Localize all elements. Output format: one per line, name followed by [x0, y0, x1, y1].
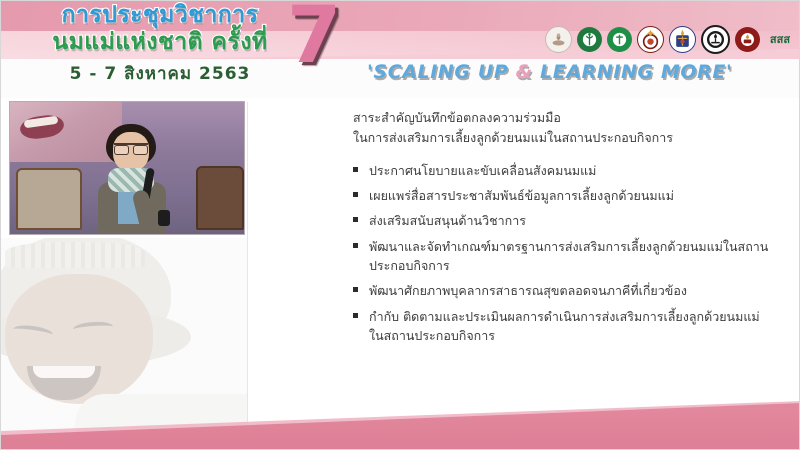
list-item-text: พัฒนาและจัดทำเกณฑ์มาตรฐานการส่งเสริมการเ… — [369, 239, 768, 273]
conference-title-line1: การประชุมวิชาการ — [15, 3, 305, 29]
child-hat-band — [5, 242, 145, 268]
chair-left — [16, 168, 82, 230]
logo-emblem-maroon-icon — [735, 27, 760, 52]
list-item: พัฒนาและจัดทำเกณฑ์มาตรฐานการส่งเสริมการเ… — [353, 237, 773, 276]
logo-thaihealth: สสส — [765, 27, 795, 52]
list-item: ส่งเสริมสนับสนุนด้านวิชาการ — [353, 211, 773, 230]
conference-title-block: การประชุมวิชาการ นมแม่แห่งชาติ ครั้งที่ … — [15, 3, 305, 87]
bullet-square-icon — [353, 243, 358, 248]
tagline-prefix: 'SCALING UP — [367, 61, 516, 83]
slide-text-content: สาระสำคัญบันทึกข้อตกลงความร่วมมือ ในการส… — [353, 108, 773, 352]
presenter-remote-icon — [158, 210, 170, 226]
tagline-ampersand: & — [516, 61, 533, 83]
logo-thaihealth-text: สสส — [770, 34, 790, 45]
lead-line-1: สาระสำคัญบันทึกข้อตกลงความร่วมมือ — [353, 108, 773, 128]
logo-emblem-black-icon — [701, 25, 730, 54]
logo-health-dept-green-icon — [577, 27, 602, 52]
column-divider — [247, 102, 248, 442]
lead-line-2: ในการส่งเสริมการเลี้ยงลูกด้วยนมแม่ในสถาน… — [353, 128, 773, 148]
bullet-square-icon — [353, 287, 358, 292]
bullet-square-icon — [353, 313, 358, 318]
edition-number-seven: 7 — [287, 1, 341, 75]
bullet-list: ประกาศนโยบายและขับเคลื่อนสังคมนมแม่ เผยแ… — [353, 161, 773, 346]
sponsor-logo-strip: สสส — [545, 25, 795, 54]
logo-ministry-public-health-icon — [607, 27, 632, 52]
logo-royal-seal-icon — [545, 26, 572, 53]
bullet-square-icon — [353, 217, 358, 222]
bullet-square-icon — [353, 192, 358, 197]
list-item-text: กำกับ ติดตามและประเมินผลการดำเนินการส่งเ… — [369, 309, 760, 343]
list-item: ประกาศนโยบายและขับเคลื่อนสังคมนมแม่ — [353, 161, 773, 180]
logo-emblem-red-icon — [637, 26, 664, 53]
presentation-slide: การประชุมวิชาการ นมแม่แห่งชาติ ครั้งที่ … — [0, 0, 800, 450]
slide-body: สาระสำคัญบันทึกข้อตกลงความร่วมมือ ในการส… — [1, 98, 800, 450]
conference-tagline: 'SCALING UP & LEARNING MORE' — [367, 61, 732, 83]
list-item-text: ส่งเสริมสนับสนุนด้านวิชาการ — [369, 213, 526, 228]
speaker-glasses — [114, 143, 148, 153]
chair-right — [196, 166, 244, 230]
list-item-text: เผยแพร่สื่อสารประชาสัมพันธ์ข้อมูลการเลี้… — [369, 188, 674, 203]
child-teeth — [33, 366, 95, 378]
logo-emblem-blue-icon — [669, 26, 696, 53]
list-item-text: พัฒนาศักยภาพบุคลากรสาธารณสุขตลอดจนภาคีที… — [369, 283, 687, 298]
list-item: เผยแพร่สื่อสารประชาสัมพันธ์ข้อมูลการเลี้… — [353, 186, 773, 205]
tagline-suffix: LEARNING MORE' — [533, 61, 733, 83]
smiling-child-photo — [1, 238, 247, 438]
speaker-video-frame[interactable] — [9, 101, 245, 235]
conference-date-range: 5 - 7 สิงหาคม 2563 — [15, 60, 305, 87]
list-item: กำกับ ติดตามและประเมินผลการดำเนินการส่งเ… — [353, 307, 773, 346]
speaker-person — [92, 124, 170, 235]
bullet-square-icon — [353, 167, 358, 172]
list-item: พัฒนาศักยภาพบุคลากรสาธารณสุขตลอดจนภาคีที… — [353, 281, 773, 300]
list-item-text: ประกาศนโยบายและขับเคลื่อนสังคมนมแม่ — [369, 163, 596, 178]
slide-lead-paragraph: สาระสำคัญบันทึกข้อตกลงความร่วมมือ ในการส… — [353, 108, 773, 149]
conference-title-line2: นมแม่แห่งชาติ ครั้งที่ — [15, 30, 305, 56]
slide-header-banner: การประชุมวิชาการ นมแม่แห่งชาติ ครั้งที่ … — [1, 1, 800, 98]
